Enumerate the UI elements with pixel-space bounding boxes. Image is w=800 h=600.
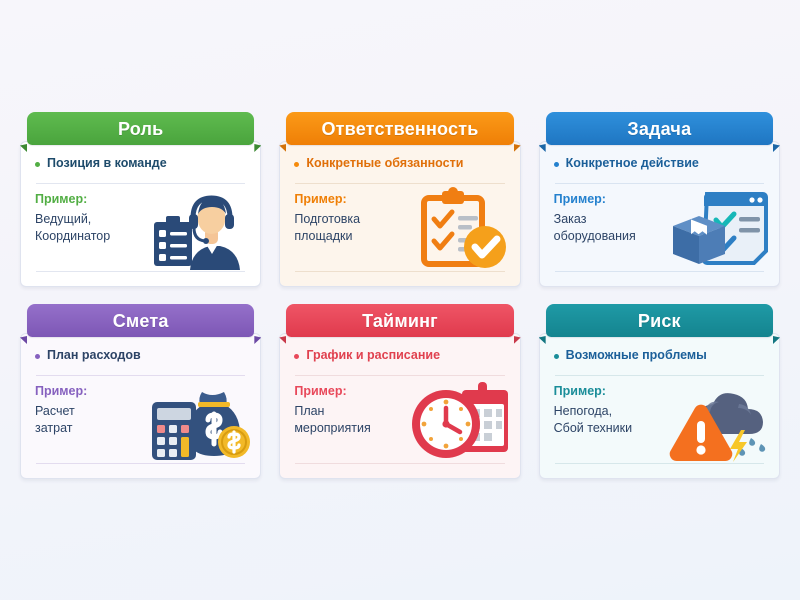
card-title-task: Задача [627,120,691,138]
example-line-1: Подготовка [294,211,409,228]
card-role[interactable]: Роль Позиция в команде Пример: Ведущий, … [20,112,261,287]
example-label-responsibility: Пример: [294,192,505,207]
card-risk[interactable]: Риск Возможные проблемы Пример: Непогода… [539,304,780,479]
example-text-responsibility: Подготовка площадки [294,211,409,246]
example-line-2: мероприятия [294,420,409,437]
example-line-1: Непогода, [554,403,669,420]
example-label-role: Пример: [35,192,246,207]
example-line-1: План [294,403,409,420]
card-bullet-responsibility: Конкретные обязанности [294,156,505,174]
card-bullet-text-task: Конкретное действие [566,156,699,172]
card-title-estimate: Смета [113,312,169,330]
card-body-task: Конкретное действие Пример: Заказ оборуд… [539,141,780,287]
bullet-dot-icon [294,354,299,359]
divider-top [36,183,245,184]
card-body-responsibility: Конкретные обязанности Пример: Подготовк… [279,141,520,287]
card-title-timing: Тайминг [362,312,438,330]
card-bullet-text-role: Позиция в команде [47,156,167,172]
example-label-estimate: Пример: [35,384,246,399]
card-header-risk: Риск [546,304,773,337]
bullet-dot-icon [294,162,299,167]
card-bullet-risk: Возможные проблемы [554,348,765,366]
card-title-role: Роль [118,120,163,138]
bullet-dot-icon [554,162,559,167]
example-label-timing: Пример: [294,384,505,399]
card-body-risk: Возможные проблемы Пример: Непогода, Сбо… [539,333,780,479]
card-bullet-estimate: План расходов [35,348,246,366]
card-bullet-text-risk: Возможные проблемы [566,348,707,364]
example-label-task: Пример: [554,192,765,207]
card-header-responsibility: Ответственность [286,112,513,145]
bullet-dot-icon [35,162,40,167]
card-body-estimate: План расходов Пример: Расчет затрат [20,333,261,479]
example-label-risk: Пример: [554,384,765,399]
example-line-2: Координатор [35,228,150,245]
divider-top [36,375,245,376]
example-text-risk: Непогода, Сбой техники [554,403,669,438]
example-text-timing: План мероприятия [294,403,409,438]
card-header-task: Задача [546,112,773,145]
card-body-role: Позиция в команде Пример: Ведущий, Коорд… [20,141,261,287]
example-line-2: площадки [294,228,409,245]
divider-bottom [555,463,764,464]
divider-bottom [36,463,245,464]
divider-top [295,183,504,184]
card-header-estimate: Смета [27,304,254,337]
cards-board: Роль Позиция в команде Пример: Ведущий, … [0,0,800,600]
card-bullet-text-estimate: План расходов [47,348,141,364]
card-bullet-timing: График и расписание [294,348,505,366]
example-line-2: Сбой техники [554,420,669,437]
cards-grid: Роль Позиция в команде Пример: Ведущий, … [20,112,780,479]
divider-bottom [295,463,504,464]
example-line-2: оборудования [554,228,669,245]
card-body-timing: График и расписание Пример: План меропри… [279,333,520,479]
example-line-1: Расчет [35,403,150,420]
example-line-1: Ведущий, [35,211,150,228]
divider-bottom [555,271,764,272]
example-line-2: затрат [35,420,150,437]
divider-top [555,183,764,184]
card-title-responsibility: Ответственность [321,120,478,138]
card-bullet-role: Позиция в команде [35,156,246,174]
card-bullet-text-timing: График и расписание [306,348,440,364]
card-bullet-text-responsibility: Конкретные обязанности [306,156,463,172]
card-bullet-task: Конкретное действие [554,156,765,174]
divider-bottom [295,271,504,272]
card-responsibility[interactable]: Ответственность Конкретные обязанности П… [279,112,520,287]
card-title-risk: Риск [638,312,681,330]
example-text-estimate: Расчет затрат [35,403,150,438]
bullet-dot-icon [35,354,40,359]
divider-top [295,375,504,376]
card-estimate[interactable]: Смета План расходов Пример: Расчет затра… [20,304,261,479]
example-text-role: Ведущий, Координатор [35,211,150,246]
divider-bottom [36,271,245,272]
card-task[interactable]: Задача Конкретное действие Пример: Заказ… [539,112,780,287]
card-timing[interactable]: Тайминг График и расписание Пример: План… [279,304,520,479]
card-header-role: Роль [27,112,254,145]
example-text-task: Заказ оборудования [554,211,669,246]
bullet-dot-icon [554,354,559,359]
card-header-timing: Тайминг [286,304,513,337]
example-line-1: Заказ [554,211,669,228]
divider-top [555,375,764,376]
